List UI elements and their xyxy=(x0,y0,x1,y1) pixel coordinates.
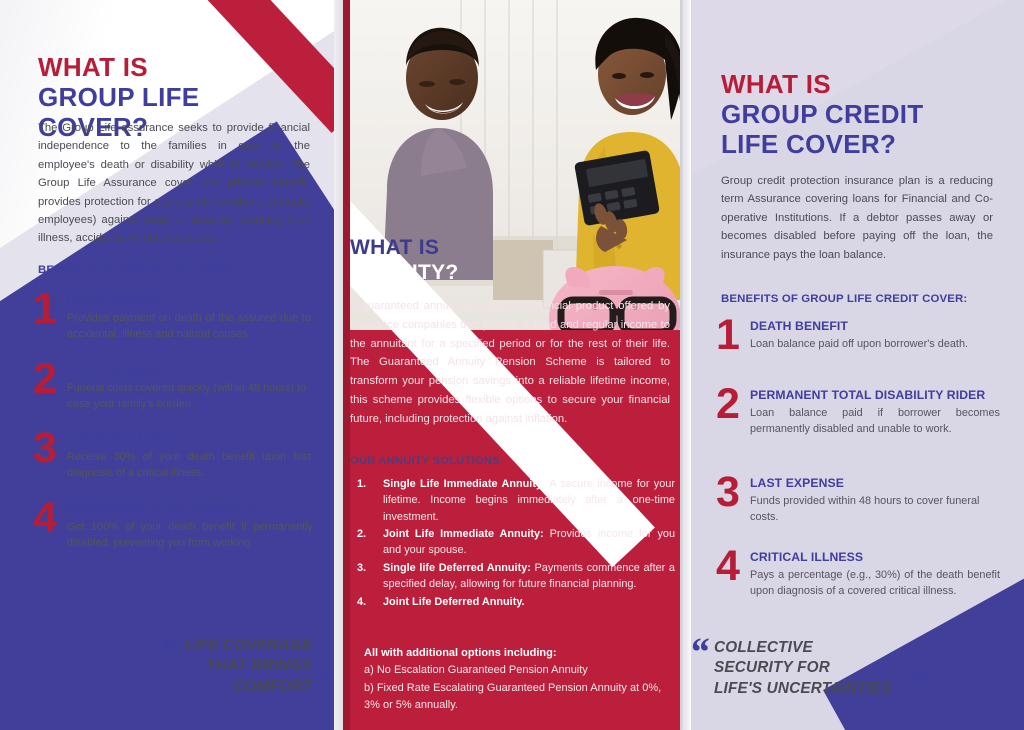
annuity-solution-text-1: Single Life Immediate Annuity: A secure … xyxy=(383,476,675,525)
right-benefit-item-1: 1 DEATH BENEFIT Loan balance paid off up… xyxy=(716,317,996,354)
middle-panel-right-fold-edge xyxy=(680,0,685,730)
right-benefit-desc-4: Pays a percentage (e.g., 30%) of the dea… xyxy=(750,567,1000,600)
middle-panel-intro-text: A guaranteed annuity is a type of financ… xyxy=(350,297,670,428)
annuity-solution-title-4: Joint Life Deferred Annuity. xyxy=(383,596,525,608)
left-benefit-item-2: 2 LAST EXPENSE Funeral costs covered qui… xyxy=(33,361,311,413)
annuity-solutions-list: 1. Single Life Immediate Annuity: A secu… xyxy=(357,476,675,611)
quote-close-mark-icon: ” xyxy=(909,671,929,699)
annuity-solution-item-2: 2. Joint Life Immediate Annuity: Provide… xyxy=(357,526,675,559)
left-benefit-number-2: 2 xyxy=(33,361,67,398)
additional-option-a: a) No Escalation Guaranteed Pension Annu… xyxy=(364,662,674,679)
right-benefit-number-2: 2 xyxy=(716,386,750,423)
annuity-solution-number-2: 2. xyxy=(357,526,383,559)
left-panel-intro-text: The Group Life assurance seeks to provid… xyxy=(38,119,310,248)
right-heading-line-3: LIFE COVER? xyxy=(721,129,1001,159)
left-benefit-desc-4: Get 100% of your death benefit if perman… xyxy=(67,519,313,552)
right-heading-line-2: GROUP CREDIT xyxy=(721,99,1001,129)
left-panel-fold-edge xyxy=(334,0,343,730)
left-benefit-title-2: LAST EXPENSE xyxy=(67,363,311,378)
right-benefit-desc-2: Loan balance paid if borrower becomes pe… xyxy=(750,405,1000,438)
annuity-solution-text-2: Joint Life Immediate Annuity: Provides i… xyxy=(383,526,675,559)
right-quote-text: COLLECTIVE SECURITY FOR LIFE'S UNCERTAIN… xyxy=(709,638,909,699)
left-quote-line-1: LIFE COVERAGE xyxy=(184,636,312,656)
right-quote-line-1: COLLECTIVE xyxy=(714,638,909,658)
panel-group-credit-life-cover: WHAT IS GROUP CREDIT LIFE COVER? Group c… xyxy=(685,0,1024,730)
left-panel-quote: “ LIFE COVERAGE THAT BRINGS COMFORT ” xyxy=(160,636,332,697)
quote-open-mark-icon: “ xyxy=(689,638,709,666)
left-benefit-number-3: 3 xyxy=(33,430,67,467)
right-heading-line-1: WHAT IS xyxy=(721,70,1001,99)
quote-open-mark-icon: “ xyxy=(160,636,180,664)
right-benefit-title-2: PERMANENT TOTAL DISABILITY RIDER xyxy=(750,388,1000,403)
right-benefit-desc-3: Funds provided within 48 hours to cover … xyxy=(750,493,996,526)
additional-option-b: b) Fixed Rate Escalating Guaranteed Pens… xyxy=(364,680,674,715)
annuity-solutions-label: OUR ANNUITY SOLUTIONS: xyxy=(350,455,504,467)
left-benefit-item-3: 3 CRITICAL ILLNESS Receive 30% of your d… xyxy=(33,430,311,482)
right-panel-fold-edge xyxy=(685,0,691,730)
middle-panel-heading: WHAT IS ANNUITY? xyxy=(350,235,680,286)
right-benefit-title-3: LAST EXPENSE xyxy=(750,476,996,491)
right-benefit-title-4: CRITICAL ILLNESS xyxy=(750,550,1000,565)
brochure-page: WHAT IS GROUP LIFE COVER? The Group Life… xyxy=(0,0,1024,730)
panel-annuity: WHAT IS ANNUITY? A guaranteed annuity is… xyxy=(343,0,685,730)
right-benefit-number-3: 3 xyxy=(716,474,750,511)
annuity-additional-options: All with additional options including: a… xyxy=(364,645,674,715)
left-quote-text: LIFE COVERAGE THAT BRINGS COMFORT xyxy=(180,636,312,697)
annuity-solution-number-4: 4. xyxy=(357,594,383,610)
quote-close-mark-icon: ” xyxy=(312,669,332,697)
left-quote-line-2: THAT BRINGS xyxy=(184,656,312,676)
left-benefit-desc-3: Receive 30% of your death benefit upon f… xyxy=(67,449,311,482)
right-panel-heading: WHAT IS GROUP CREDIT LIFE COVER? xyxy=(721,70,1001,159)
right-benefit-number-1: 1 xyxy=(716,317,750,354)
right-benefit-number-4: 4 xyxy=(716,548,750,585)
annuity-solution-item-4: 4. Joint Life Deferred Annuity. xyxy=(357,594,675,610)
panel-group-life-cover: WHAT IS GROUP LIFE COVER? The Group Life… xyxy=(0,0,343,730)
annuity-solution-item-1: 1. Single Life Immediate Annuity: A secu… xyxy=(357,476,675,525)
right-benefit-desc-1: Loan balance paid off upon borrower's de… xyxy=(750,336,996,353)
left-benefit-title-1: DEATH BENEFIT xyxy=(67,293,311,308)
left-benefit-number-4: 4 xyxy=(33,500,67,537)
annuity-solution-number-1: 1. xyxy=(357,476,383,525)
right-benefit-item-3: 3 LAST EXPENSE Funds provided within 48 … xyxy=(716,474,996,526)
left-benefit-title-3: CRITICAL ILLNESS xyxy=(67,432,311,447)
left-benefit-number-1: 1 xyxy=(33,291,67,328)
left-benefit-item-1: 1 DEATH BENEFIT Provides payment on deat… xyxy=(33,291,311,343)
annuity-solution-title-2: Joint Life Immediate Annuity: xyxy=(383,528,544,540)
annuity-solution-text-4: Joint Life Deferred Annuity. xyxy=(383,594,675,610)
additional-options-label: All with additional options including: xyxy=(364,645,674,662)
left-heading-line-1: WHAT IS xyxy=(38,53,313,82)
right-quote-line-3: LIFE'S UNCERTAINTIES xyxy=(714,679,909,699)
right-panel-quote: “ COLLECTIVE SECURITY FOR LIFE'S UNCERTA… xyxy=(689,638,929,699)
left-benefit-title-4: PERMANENT TOTAL DISABILITY xyxy=(67,502,313,517)
middle-heading-line-2: ANNUITY? xyxy=(350,260,680,286)
middle-panel-left-fold-edge xyxy=(343,0,350,730)
annuity-solution-title-3: Single life Deferred Annuity: xyxy=(383,562,531,574)
annuity-solution-text-3: Single life Deferred Annuity: Payments c… xyxy=(383,560,675,593)
left-quote-line-3: COMFORT xyxy=(184,677,312,697)
right-panel-intro-text: Group credit protection insurance plan i… xyxy=(721,172,993,264)
right-benefit-title-1: DEATH BENEFIT xyxy=(750,319,996,334)
annuity-solution-item-3: 3. Single life Deferred Annuity: Payment… xyxy=(357,560,675,593)
right-benefits-label: BENEFITS OF GROUP LIFE CREDIT COVER: xyxy=(721,293,967,305)
left-benefit-desc-2: Funeral costs covered quickly (within 48… xyxy=(67,380,311,413)
left-benefit-desc-1: Provides payment on death of the assured… xyxy=(67,310,311,343)
right-quote-line-2: SECURITY FOR xyxy=(714,658,909,678)
annuity-solution-number-3: 3. xyxy=(357,560,383,593)
annuity-solution-title-1: Single Life Immediate Annuity: xyxy=(383,478,546,490)
right-benefit-item-4: 4 CRITICAL ILLNESS Pays a percentage (e.… xyxy=(716,548,1000,600)
middle-heading-line-1: WHAT IS xyxy=(350,235,680,260)
left-benefits-label: BENEFITS OF GROUP LIFE COVER: xyxy=(38,264,238,276)
right-benefit-item-2: 2 PERMANENT TOTAL DISABILITY RIDER Loan … xyxy=(716,386,1000,438)
left-benefit-item-4: 4 PERMANENT TOTAL DISABILITY Get 100% of… xyxy=(33,500,313,552)
